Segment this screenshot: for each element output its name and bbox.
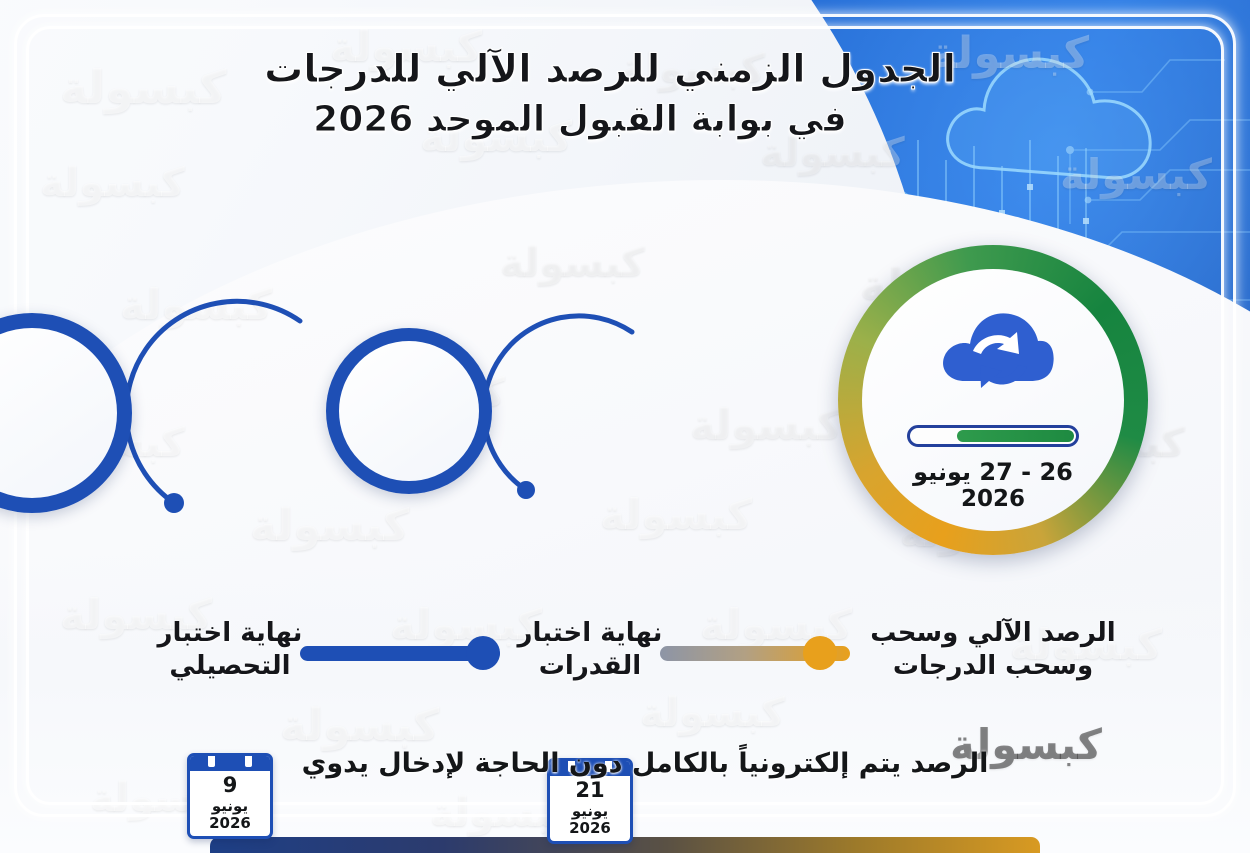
calendar-day: 21 <box>550 780 630 801</box>
connector-2-node-dot <box>803 636 837 670</box>
step-circle <box>326 328 492 494</box>
title-line-1: الجدول الزمني للرصد الآلي للدرجات <box>0 48 1250 92</box>
infographic-poster: كبسولة كبسولة كبسولة كبسولة كبسولة كبسول… <box>0 0 1250 853</box>
timeline: 9 يونيو 2026 21 يونيو 2026 <box>0 240 1250 640</box>
orbit-arc-decoration <box>104 287 360 543</box>
calendar-month: يونيو <box>190 798 270 815</box>
orbit-arc-decoration <box>466 304 684 522</box>
step-caption-qudurat: نهاية اختبار القدرات <box>470 617 710 682</box>
calendar-year: 2026 <box>550 820 630 837</box>
step-circle <box>0 313 132 513</box>
page-title: الجدول الزمني للرصد الآلي للدرجات في بوا… <box>0 48 1250 141</box>
calendar-month: يونيو <box>550 803 630 820</box>
title-line-2: في بوابة القبول الموحد 2026 <box>0 98 1250 141</box>
step-caption-auto-monitoring: الرصد الآلي وسحب وسحب الدرجات <box>838 617 1148 682</box>
step-caption-tahsili: نهاية اختبار التحصيلي <box>110 617 350 682</box>
footer-note: الرصد يتم إلكترونياً بالكامل دون الحاجة … <box>0 748 1250 779</box>
calendar-year: 2026 <box>190 815 270 832</box>
